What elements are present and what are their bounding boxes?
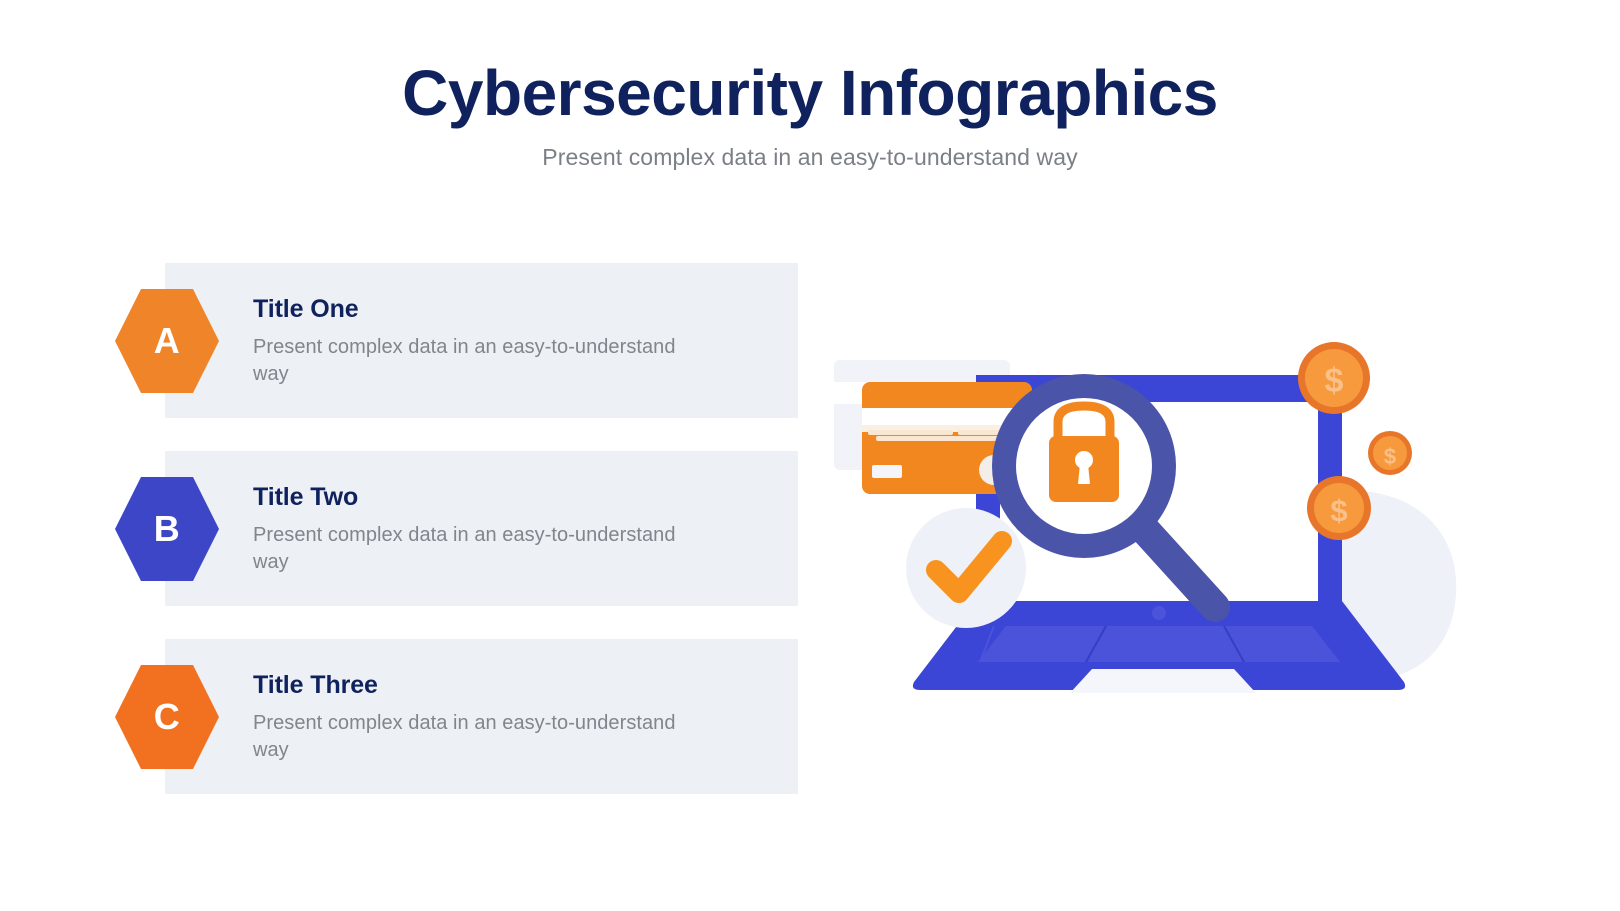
list-item[interactable]: B Title Two Present complex data in an e… — [0, 451, 810, 606]
svg-text:$: $ — [1330, 493, 1347, 528]
svg-text:$: $ — [1325, 362, 1344, 400]
item-description: Present complex data in an easy-to-under… — [253, 710, 693, 764]
hexagon-badge-letter: B — [154, 511, 181, 547]
hexagon-badge-letter: C — [154, 699, 181, 735]
item-description: Present complex data in an easy-to-under… — [253, 334, 693, 388]
item-text-c: Title Three Present complex data in an e… — [253, 670, 693, 764]
coin-small-icon: $ — [1368, 431, 1412, 475]
list-item[interactable]: A Title One Present complex data in an e… — [0, 263, 810, 418]
items-list: A Title One Present complex data in an e… — [0, 263, 810, 808]
header: Cybersecurity Infographics Present compl… — [0, 60, 1620, 171]
item-title: Title Three — [253, 670, 693, 700]
item-title: Title Two — [253, 482, 693, 512]
list-item[interactable]: C Title Three Present complex data in an… — [0, 639, 810, 794]
item-description: Present complex data in an easy-to-under… — [253, 522, 693, 576]
coin-medium-icon: $ — [1307, 476, 1371, 540]
cybersecurity-laptop-illustration: $ $ $ — [820, 330, 1480, 730]
hexagon-badge-letter: A — [154, 323, 181, 359]
check-circle-icon — [906, 508, 1026, 628]
coin-large-icon: $ — [1298, 342, 1370, 414]
page-title: Cybersecurity Infographics — [0, 60, 1620, 127]
item-text-a: Title One Present complex data in an eas… — [253, 294, 693, 388]
item-text-b: Title Two Present complex data in an eas… — [253, 482, 693, 576]
svg-text:$: $ — [1384, 444, 1396, 469]
item-title: Title One — [253, 294, 693, 324]
page-subtitle: Present complex data in an easy-to-under… — [0, 144, 1620, 171]
